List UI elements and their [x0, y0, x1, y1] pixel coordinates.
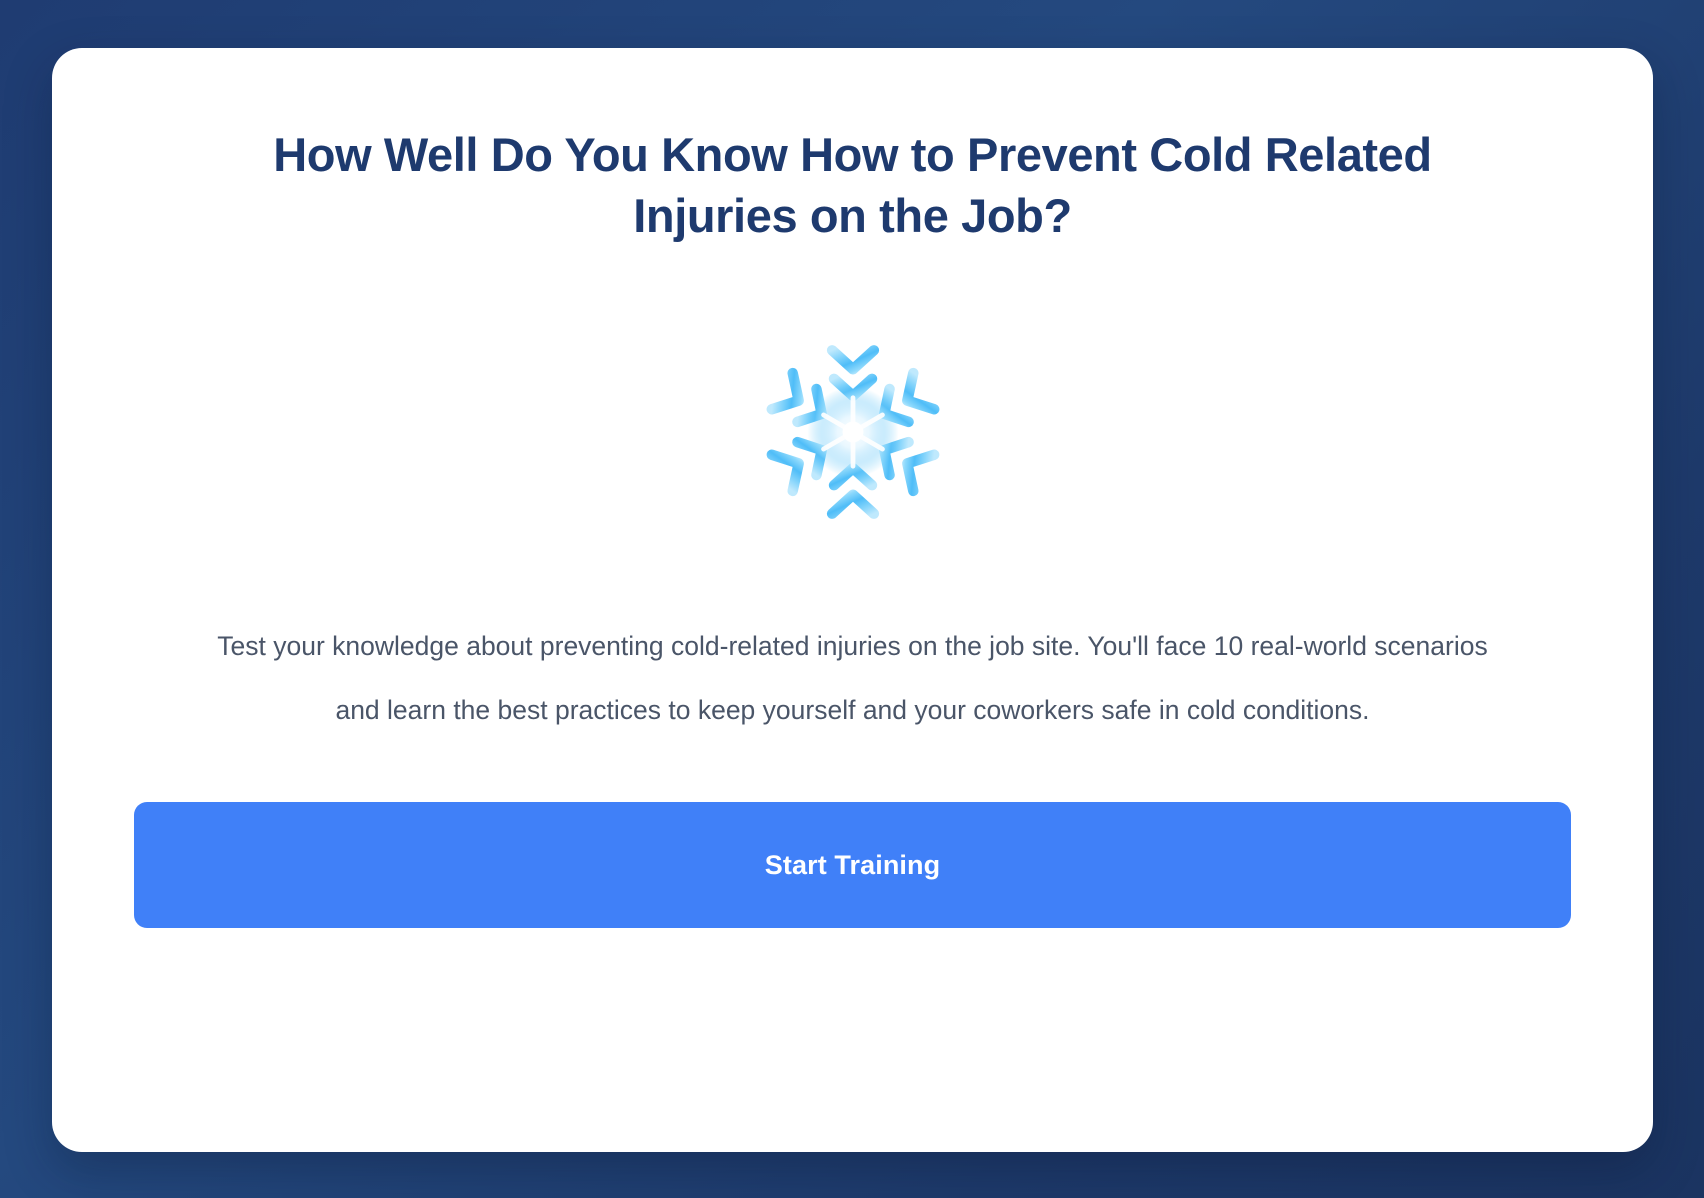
quiz-intro-page: How Well Do You Know How to Prevent Cold…	[0, 0, 1704, 1198]
snowflake-icon	[758, 337, 948, 527]
page-title: How Well Do You Know How to Prevent Cold…	[208, 124, 1498, 246]
quiz-description: Test your knowledge about preventing col…	[193, 614, 1513, 742]
hero-icon-container	[134, 332, 1571, 532]
start-training-button[interactable]: Start Training	[134, 802, 1571, 928]
quiz-intro-card: How Well Do You Know How to Prevent Cold…	[52, 48, 1653, 1152]
